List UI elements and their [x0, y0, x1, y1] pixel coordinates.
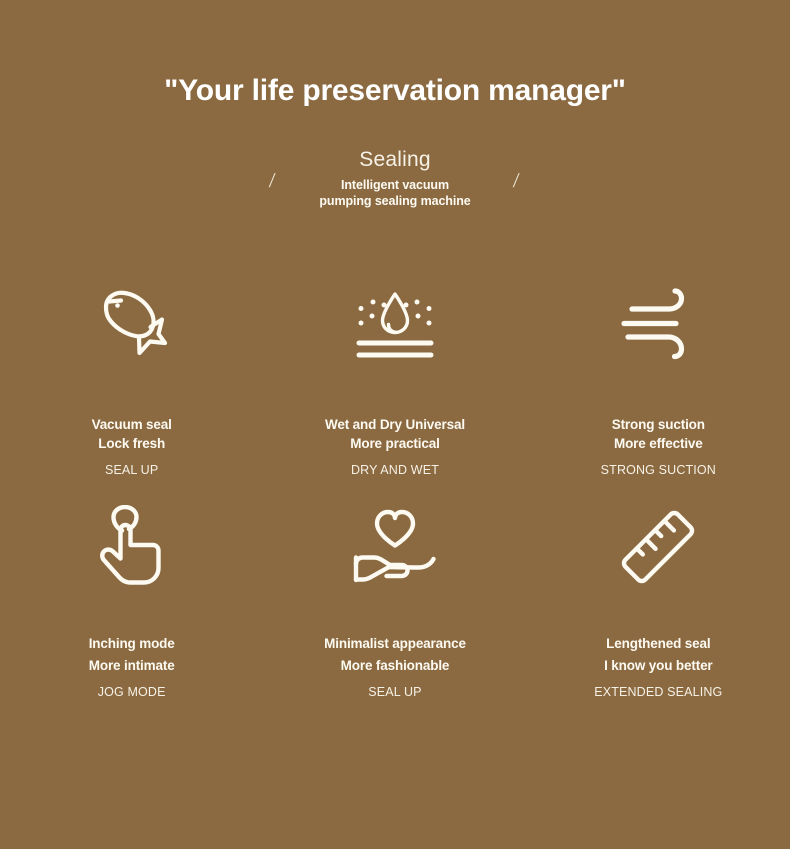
slash-right-decoration: / [512, 148, 521, 191]
ruler-icon [618, 491, 698, 603]
tap-hand-icon [97, 491, 167, 603]
feature-item-minimalist: Minimalist appearance More fashionable S… [263, 491, 526, 699]
subtitle-heading: Sealing [310, 148, 480, 173]
page-title: "Your life preservation manager" [0, 74, 790, 108]
feature-label: Wet and Dry Universal More practical DRY… [325, 416, 465, 477]
subtitle-center: Sealing Intelligent vacuum pumping seali… [310, 148, 480, 210]
fish-icon [90, 268, 174, 380]
feature-title-line1: Inching mode [89, 633, 175, 655]
feature-caption: STRONG SUCTION [601, 463, 716, 477]
subtitle-block: / Sealing Intelligent vacuum pumping sea… [0, 148, 790, 210]
subtitle-description-line2: pumping sealing machine [310, 193, 480, 210]
feature-title-line2: More fashionable [324, 655, 466, 677]
slash-left-decoration: / [269, 148, 278, 191]
feature-title-line2: More intimate [89, 655, 175, 677]
feature-item-vacuum-seal: Vacuum seal Lock fresh SEAL UP [0, 268, 263, 477]
feature-label: Lengthened seal I know you better EXTEND… [594, 633, 722, 699]
feature-item-strong-suction: Strong suction More effective STRONG SUC… [527, 268, 790, 477]
feature-label: Strong suction More effective STRONG SUC… [601, 416, 716, 477]
wind-icon [618, 268, 698, 380]
subtitle-description: Intelligent vacuum pumping sealing machi… [310, 177, 480, 210]
feature-title-line1: Lengthened seal [594, 633, 722, 655]
feature-caption: JOG MODE [89, 685, 175, 699]
feature-item-wet-dry: Wet and Dry Universal More practical DRY… [263, 268, 526, 477]
hand-heart-icon [351, 491, 439, 603]
feature-caption: SEAL UP [324, 685, 466, 699]
feature-row: Inching mode More intimate JOG MODE [0, 491, 790, 699]
feature-item-inching-mode: Inching mode More intimate JOG MODE [0, 491, 263, 699]
feature-title-line2: More practical [325, 435, 465, 454]
promo-banner: "Your life preservation manager" / Seali… [0, 0, 790, 849]
feature-caption: DRY AND WET [325, 463, 465, 477]
feature-title-line1: Strong suction [601, 416, 716, 435]
feature-label: Inching mode More intimate JOG MODE [89, 633, 175, 699]
feature-title-line2: I know you better [594, 655, 722, 677]
feature-item-lengthened-seal: Lengthened seal I know you better EXTEND… [527, 491, 790, 699]
feature-label: Minimalist appearance More fashionable S… [324, 633, 466, 699]
subtitle-description-line1: Intelligent vacuum [310, 177, 480, 194]
feature-title-line1: Wet and Dry Universal [325, 416, 465, 435]
feature-title-line2: Lock fresh [92, 435, 172, 454]
feature-title-line2: More effective [601, 435, 716, 454]
feature-title-line1: Minimalist appearance [324, 633, 466, 655]
feature-caption: EXTENDED SEALING [594, 685, 722, 699]
feature-label: Vacuum seal Lock fresh SEAL UP [92, 416, 172, 477]
water-droplet-lines-icon [352, 268, 438, 380]
feature-title-line1: Vacuum seal [92, 416, 172, 435]
feature-row: Vacuum seal Lock fresh SEAL UP [0, 268, 790, 477]
feature-caption: SEAL UP [92, 463, 172, 477]
feature-grid: Vacuum seal Lock fresh SEAL UP [0, 268, 790, 699]
